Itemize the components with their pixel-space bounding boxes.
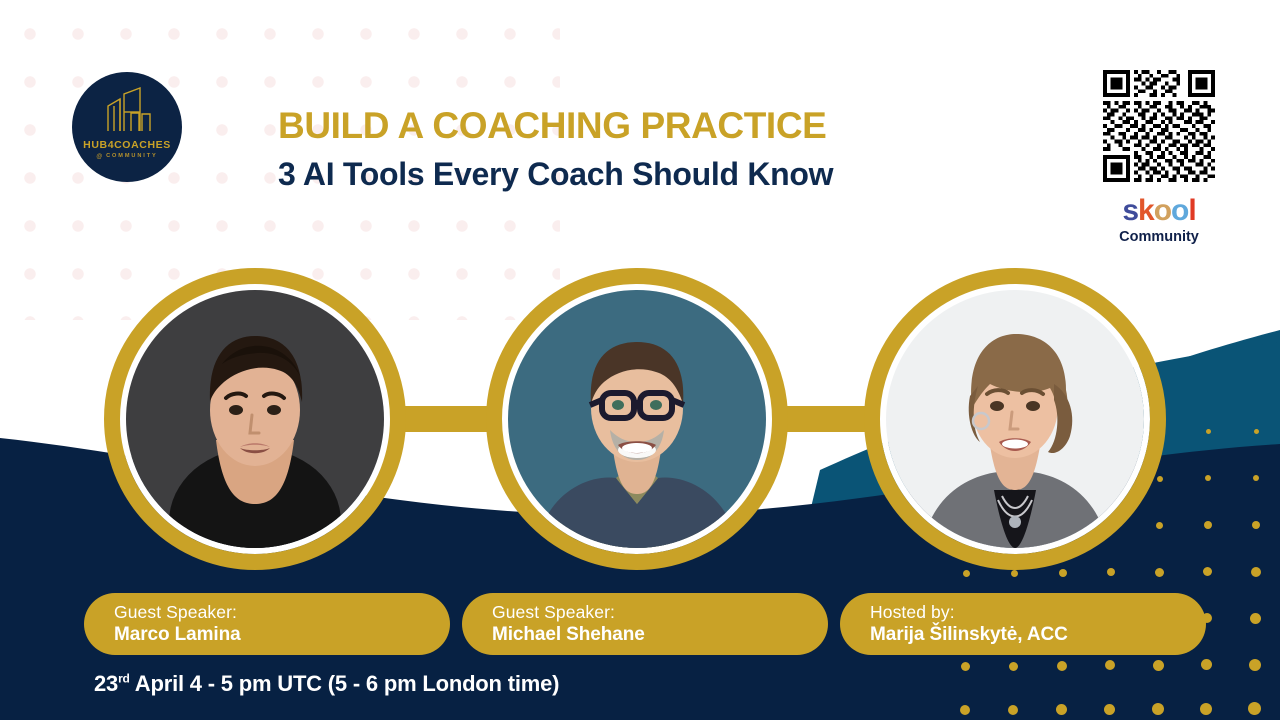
portrait-ring-1 — [104, 268, 406, 570]
speaker-role-3: Hosted by: — [870, 603, 1206, 623]
headline-primary: BUILD A COACHING PRACTICE — [278, 106, 978, 145]
speaker-bar-3: Hosted by: Marija Šilinskytė, ACC — [840, 593, 1206, 655]
portrait-michael-shehane — [486, 268, 788, 570]
speaker-role-1: Guest Speaker: — [114, 603, 450, 623]
event-ordinal: rd — [118, 672, 130, 686]
logo-subtitle-text: COMMUNITY — [106, 154, 158, 160]
skool-wordmark: skool — [1103, 196, 1215, 226]
speaker-role-2: Guest Speaker: — [492, 603, 828, 623]
skool-community-label: Community — [1103, 230, 1215, 245]
skool-logo: skool Community — [1103, 196, 1215, 245]
speaker-name-2: Michael Shehane — [492, 624, 828, 645]
skool-letter-o2: o — [1171, 194, 1188, 227]
poster-canvas: HUB4COACHES @ COMMUNITY BUILD A COACHING… — [0, 0, 1280, 720]
speaker-bar-2: Guest Speaker: Michael Shehane — [462, 593, 828, 655]
hub4coaches-logo: HUB4COACHES @ COMMUNITY — [72, 72, 182, 182]
logo-subtitle: @ COMMUNITY — [96, 154, 157, 160]
skool-letter-k: k — [1138, 194, 1154, 227]
portrait-ring-3 — [864, 268, 1166, 570]
headline-secondary: 3 AI Tools Every Coach Should Know — [278, 157, 978, 192]
speaker-bar-1: Guest Speaker: Marco Lamina — [84, 593, 450, 655]
event-datetime: 23rd April 4 - 5 pm UTC (5 - 6 pm London… — [94, 671, 559, 697]
ring-connector-right — [776, 406, 868, 432]
headline-block: BUILD A COACHING PRACTICE 3 AI Tools Eve… — [278, 106, 978, 192]
skool-letter-s: s — [1122, 194, 1138, 227]
logo-wordmark: HUB4COACHES — [83, 140, 171, 151]
event-day: 23 — [94, 671, 118, 696]
speaker-name-1: Marco Lamina — [114, 624, 450, 645]
portrait-marija-silinskyte — [864, 268, 1166, 570]
building-skyline-icon — [100, 86, 154, 137]
skool-letter-l: l — [1188, 194, 1195, 227]
speaker-portraits — [0, 268, 1280, 568]
qr-skool-block: skool Community — [1103, 70, 1221, 245]
skool-letter-o1: o — [1154, 194, 1171, 227]
ring-connector-left — [398, 406, 498, 432]
portrait-ring-2 — [486, 268, 788, 570]
qr-code-icon[interactable] — [1103, 70, 1221, 182]
at-icon: @ — [96, 154, 104, 160]
portrait-marco-lamina — [104, 268, 406, 570]
event-rest: April 4 - 5 pm UTC (5 - 6 pm London time… — [130, 671, 560, 696]
speaker-name-3: Marija Šilinskytė, ACC — [870, 624, 1206, 645]
